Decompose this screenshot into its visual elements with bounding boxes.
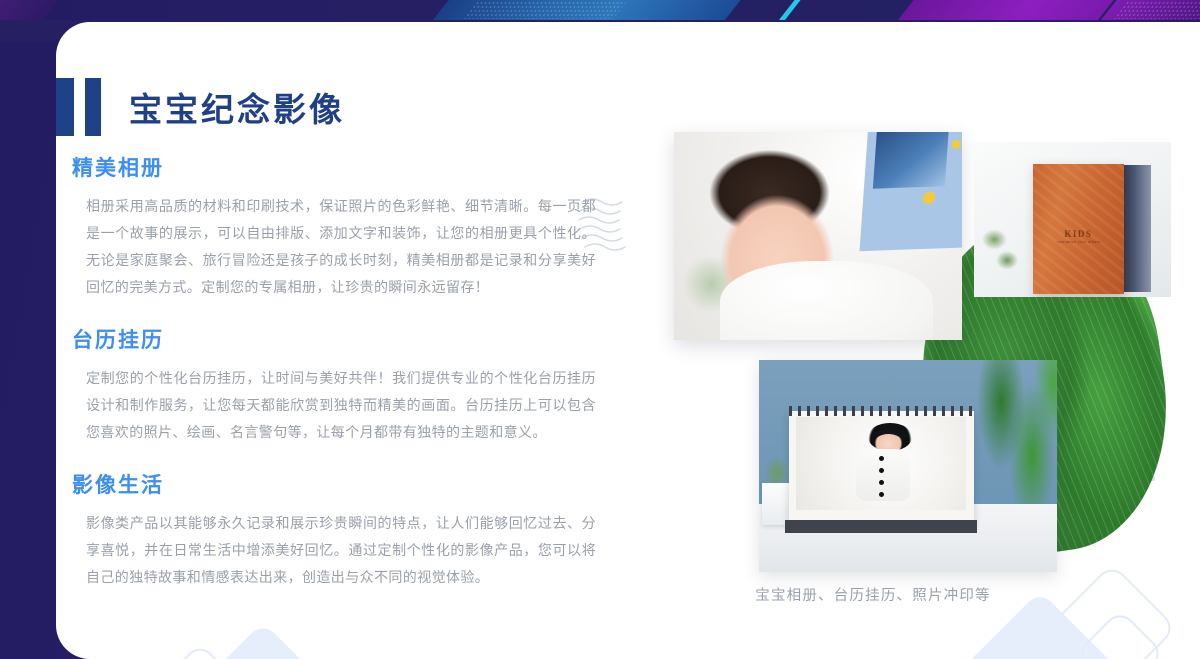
feature-header: 影像生活: [56, 469, 602, 499]
calendar-spiral-rings: [789, 406, 974, 416]
leather-kids-album-photo: KIDS customize your album: [974, 142, 1171, 297]
book-logo: KIDS customize your album: [1033, 229, 1124, 244]
collage-caption: 宝宝相册、台历挂历、照片冲印等: [674, 584, 1072, 605]
calendar-body: [789, 411, 974, 521]
calendar-stand-base: [785, 520, 977, 533]
olive-branch-decoration: [974, 220, 1025, 285]
desk-calendar-photo: [759, 360, 1057, 572]
top-ribbon-purple: [896, 0, 1113, 22]
feature-title: 精美相册: [72, 152, 164, 182]
page-title-row: 宝宝纪念影像: [56, 78, 345, 136]
baby-clothing: [720, 261, 933, 340]
page-root: 宝宝纪念影像 精美相册 相册采用高品质的材料和印刷技术，保证照片的色彩鲜艳、细节…: [0, 0, 1200, 659]
rounded-diamond-fill-left: [208, 622, 318, 659]
feature-header: 精美相册: [56, 152, 602, 182]
content-card: 宝宝纪念影像 精美相册 相册采用高品质的材料和印刷技术，保证照片的色彩鲜艳、细节…: [56, 22, 1200, 659]
calendar-printed-photo: [796, 417, 966, 510]
paw-print-icon: [952, 139, 962, 148]
feature-body: 影像类产品以其能够永久记录和展示珍贵瞬间的特点，让人们能够回忆过去、分享喜悦，并…: [86, 511, 596, 592]
baby-album-spread-photo: [674, 132, 962, 340]
album-inner-pages: [1120, 165, 1152, 292]
album-leather-cover: KIDS customize your album: [1033, 164, 1124, 294]
book-logo-name: KIDS: [1064, 229, 1092, 239]
top-ribbon-dots-right: [1113, 1, 1200, 19]
feature-body: 定制您的个性化台历挂历，让时间与美好共伴！我们提供专业的个性化台历挂历设计和制作…: [86, 366, 596, 447]
page-title: 宝宝纪念影像: [129, 83, 345, 131]
paw-print-icon: [923, 191, 936, 203]
feature-header: 台历挂历: [56, 324, 602, 354]
title-accent-block-narrow: [85, 78, 101, 136]
feature-body: 相册采用高品质的材料和印刷技术，保证照片的色彩鲜艳、细节清晰。每一页都是一个故事…: [86, 194, 596, 302]
feature-title: 影像生活: [72, 469, 164, 499]
title-accent-block-wide: [56, 78, 74, 136]
feature-list: 精美相册 相册采用高品质的材料和印刷技术，保证照片的色彩鲜艳、细节清晰。每一页都…: [56, 152, 602, 614]
feature-item: 台历挂历 定制您的个性化台历挂历，让时间与美好共伴！我们提供专业的个性化台历挂历…: [56, 324, 602, 447]
top-ribbon-dots-left: [463, 1, 627, 19]
book-logo-tagline: customize your album: [1033, 239, 1124, 244]
feature-title: 台历挂历: [72, 324, 164, 354]
feature-item: 精美相册 相册采用高品质的材料和印刷技术，保证照片的色彩鲜艳、细节清晰。每一页都…: [56, 152, 602, 302]
feature-item: 影像生活 影像类产品以其能够永久记录和展示珍贵瞬间的特点，让人们能够回忆过去、分…: [56, 469, 602, 592]
photo-collage: KIDS customize your album: [556, 102, 1186, 602]
